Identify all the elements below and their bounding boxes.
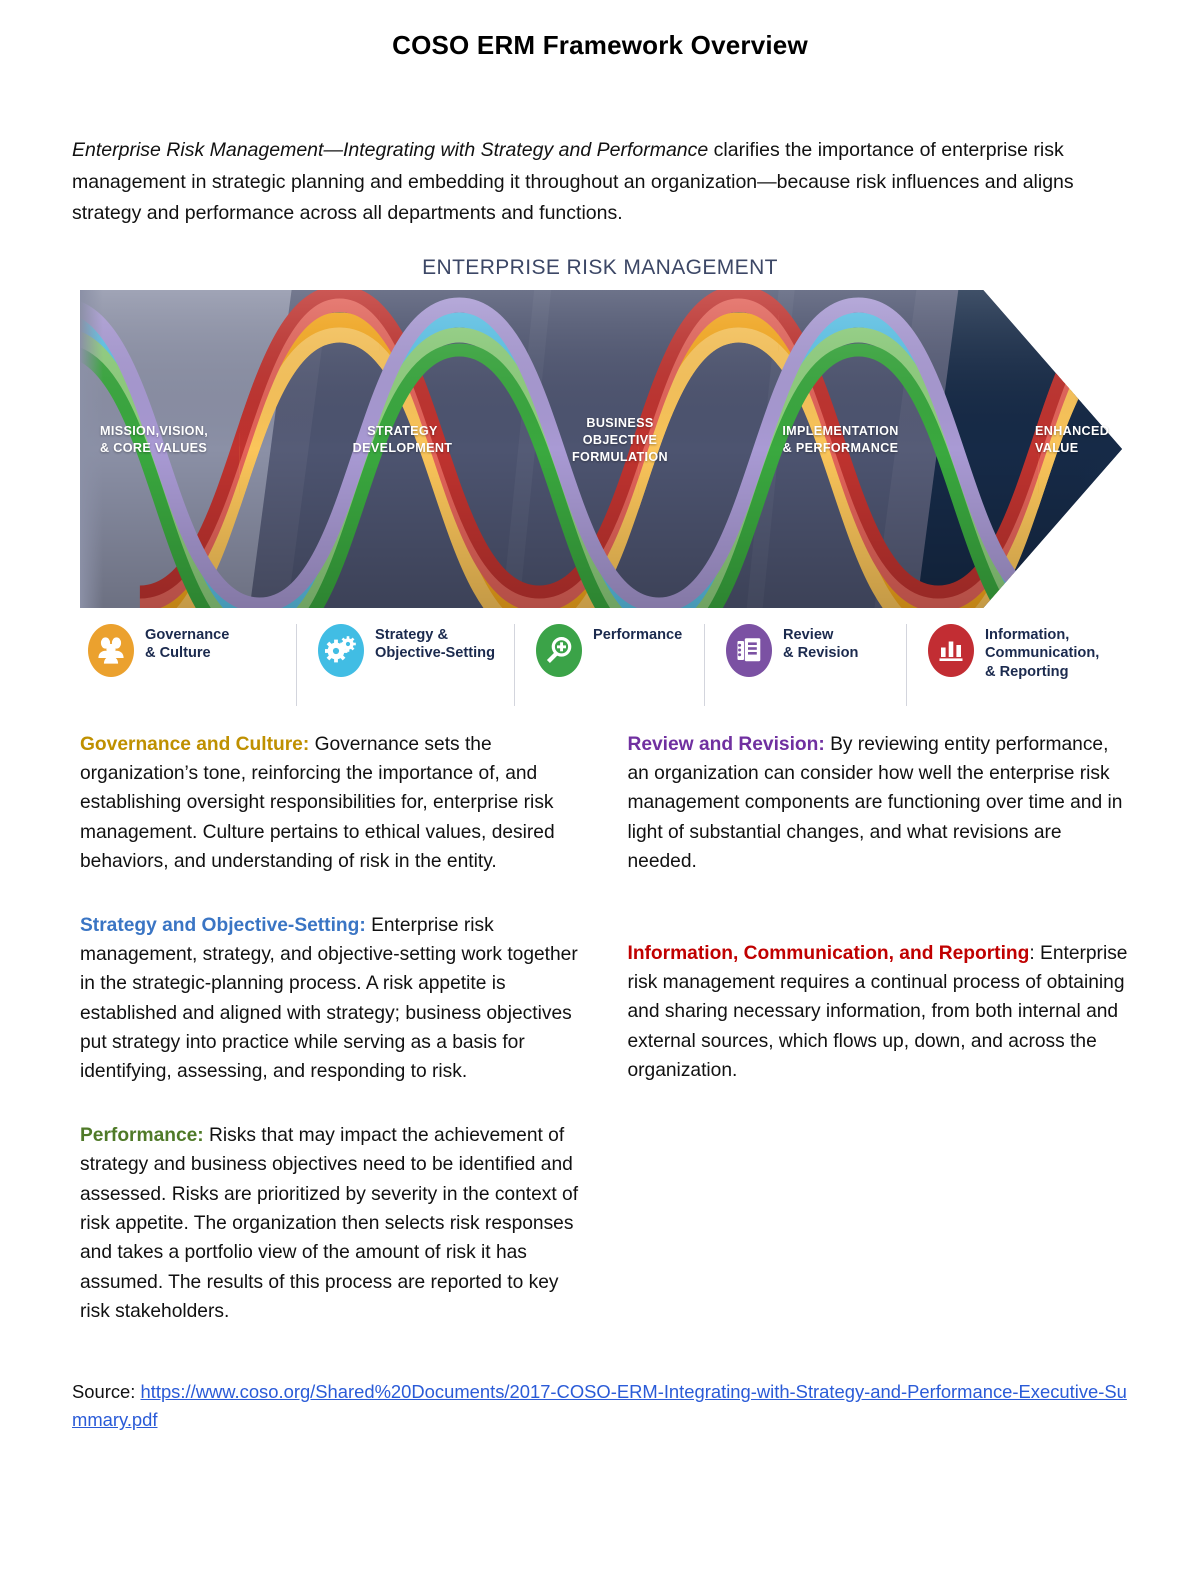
erm-diagram: ENTERPRISE RISK MANAGEMENT	[0, 256, 1200, 714]
right-column: Review and Revision: By reviewing entity…	[627, 730, 1128, 1361]
component-heading: Strategy and Objective-Setting:	[80, 915, 366, 936]
component-heading: Performance:	[80, 1125, 204, 1146]
component-icon-row: Governance & Culture	[88, 622, 1122, 714]
component-icon-label: Information, Communication, & Reporting	[985, 622, 1099, 682]
component-description-columns: Governance and Culture: Governance sets …	[80, 730, 1128, 1361]
component-icon-performance: Performance	[514, 622, 704, 710]
bar-chart-icon	[928, 624, 974, 677]
component-body: Risks that may impact the achievement of…	[80, 1125, 578, 1322]
component-icon-label: Performance	[593, 622, 682, 645]
component-icon-label: Strategy & Objective-Setting	[375, 622, 495, 663]
erm-arrow-figure: MISSION,VISION, & CORE VALUES STRATEGY D…	[80, 290, 1122, 608]
component-heading: Information, Communication, and Reportin…	[627, 943, 1029, 964]
source-link[interactable]: https://www.coso.org/Shared%20Documents/…	[72, 1381, 1127, 1430]
component-block-review-revision: Review and Revision: By reviewing entity…	[627, 730, 1128, 877]
source-line: Source: https://www.coso.org/Shared%20Do…	[72, 1378, 1128, 1434]
document-icon	[726, 624, 772, 677]
component-block-performance: Performance: Risks that may impact the a…	[80, 1121, 585, 1327]
component-icon-label: Review & Revision	[783, 622, 858, 663]
component-icon-governance-culture: Governance & Culture	[88, 622, 296, 710]
source-label: Source:	[72, 1381, 141, 1402]
intro-paragraph: Enterprise Risk Management—Integrating w…	[72, 135, 1128, 230]
left-column: Governance and Culture: Governance sets …	[80, 730, 585, 1361]
component-icon-review-revision: Review & Revision	[704, 622, 906, 710]
component-block-strategy-objective-setting: Strategy and Objective-Setting: Enterpri…	[80, 911, 585, 1087]
component-heading: Review and Revision:	[627, 734, 824, 755]
component-body: Enterprise risk management, strategy, an…	[80, 915, 578, 1083]
people-icon	[88, 624, 134, 677]
gears-icon	[318, 624, 364, 677]
diagram-heading: ENTERPRISE RISK MANAGEMENT	[0, 256, 1200, 280]
component-block-information-communication-reporting: Information, Communication, and Reportin…	[627, 939, 1128, 1086]
component-block-governance-culture: Governance and Culture: Governance sets …	[80, 730, 585, 877]
page-title: COSO ERM Framework Overview	[0, 30, 1200, 61]
magnifier-plus-icon	[536, 624, 582, 677]
component-heading: Governance and Culture:	[80, 734, 309, 755]
component-icon-label: Governance & Culture	[145, 622, 229, 663]
component-icon-strategy-objective-setting: Strategy & Objective-Setting	[296, 622, 514, 710]
component-icon-information-communication-reporting: Information, Communication, & Reporting	[906, 622, 1121, 710]
intro-italic-title: Enterprise Risk Management—Integrating w…	[72, 139, 708, 161]
document-page: COSO ERM Framework Overview Enterprise R…	[0, 30, 1200, 1583]
erm-ribbon-graphic	[80, 290, 1122, 608]
